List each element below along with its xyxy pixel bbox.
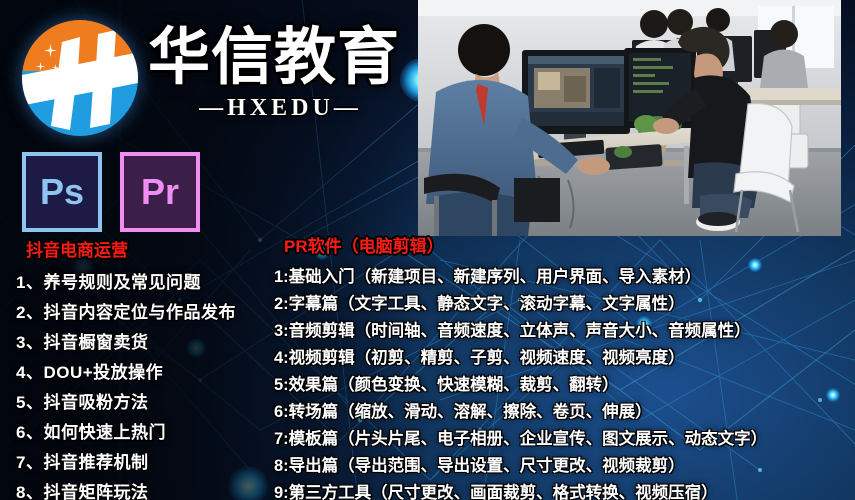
list-item: 5:效果篇（颜色变换、快速模糊、裁剪、翻转） [274,371,854,395]
classroom-illustration [418,0,841,236]
hxedu-logo [22,20,138,136]
brand-block: 华信教育 —HXEDU— [148,24,413,122]
pr-course-column: PR软件（电脑剪辑） 1:基础入门（新建项目、新建序列、用户界面、导入素材） 2… [274,232,854,500]
logo-h-letter [22,20,138,136]
ps-icon: Ps [22,152,102,232]
left-column-title: 抖音电商运营 [26,236,296,261]
training-classroom-photo [418,0,841,236]
douyin-course-column: 抖音电商运营 1、养号规则及常见问题 2、抖音内容定位与作品发布 3、抖音橱窗卖… [8,236,296,500]
list-item: 6:转场篇（缩放、滑动、溶解、擦除、卷页、伸展） [274,398,854,422]
list-item: 4:视频剪辑（初剪、精剪、子剪、视频速度、视频亮度） [274,344,854,368]
brand-name-en: —HXEDU— [148,95,413,122]
list-item: 3:音频剪辑（时间轴、音频速度、立体声、声音大小、音频属性） [274,317,854,341]
list-item: 3、抖音橱窗卖货 [8,328,296,353]
right-column-title: PR软件（电脑剪辑） [284,232,854,257]
brand-name-cn: 华信教育 [148,24,413,92]
list-item: 5、抖音吸粉方法 [8,388,296,413]
list-item: 1:基础入门（新建项目、新建序列、用户界面、导入素材） [274,263,854,287]
list-item: 8:导出篇（导出范围、导出设置、尺寸更改、视频裁剪） [274,452,854,476]
list-item: 1、养号规则及常见问题 [8,268,296,293]
list-item: 4、DOU+投放操作 [8,358,296,383]
list-item: 7、抖音推荐机制 [8,448,296,473]
poster-canvas: 华信教育 —HXEDU— Ps Pr 抖音电商运营 1、养号规则及常见问题 2、… [0,0,855,500]
list-item: 9:第三方工具（尺寸更改、画面裁剪、格式转换、视频压宿） [274,479,854,500]
list-item: 2:字幕篇（文字工具、静态文字、滚动字幕、文字属性） [274,290,854,314]
list-item: 2、抖音内容定位与作品发布 [8,298,296,323]
left-course-list: 1、养号规则及常见问题 2、抖音内容定位与作品发布 3、抖音橱窗卖货 4、DOU… [8,268,296,500]
software-icon-group: Ps Pr [22,152,200,232]
pr-icon: Pr [120,152,200,232]
list-item: 7:模板篇（片头片尾、电子相册、企业宣传、图文展示、动态文字） [274,425,854,449]
list-item: 8、抖音矩阵玩法 [8,478,296,500]
list-item: 6、如何快速上热门 [8,418,296,443]
right-course-list: 1:基础入门（新建项目、新建序列、用户界面、导入素材） 2:字幕篇（文字工具、静… [274,263,854,500]
